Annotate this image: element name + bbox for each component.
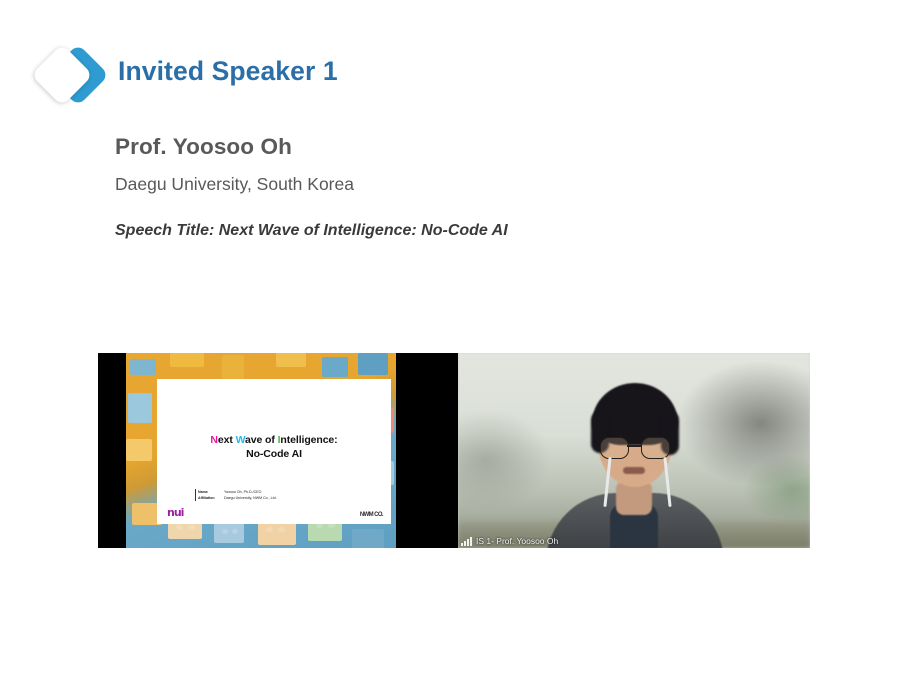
diamond-logo-icon [34, 46, 108, 108]
participant-name-text: IS 1- Prof. Yoosoo Oh [476, 536, 558, 546]
speaker-name: Prof. Yoosoo Oh [115, 134, 292, 160]
glasses-icon [600, 437, 670, 457]
slide-heading-ext: ext [218, 434, 236, 446]
slide-heading: Next Wave of Intelligence: No-Code AI [157, 433, 391, 461]
slide-meta-row: AffiliationDaegu University, NWM Co., Lt… [195, 495, 277, 501]
slide-heading-line2: No-Code AI [246, 448, 302, 460]
slide-meta-value: Yoosoo Oh, Ph.D./CEO [220, 490, 261, 494]
letterbox-right [396, 353, 458, 548]
signal-strength-icon [461, 537, 472, 546]
nui-lab-logo-icon: nui [167, 506, 183, 519]
speaker-figure [458, 353, 810, 548]
slide-heading-n: N [210, 434, 217, 446]
session-screenshot: Next Wave of Intelligence: No-Code AI Na… [98, 353, 810, 548]
letterbox-left [98, 353, 126, 548]
slide-header: Invited Speaker 1 [0, 0, 912, 120]
speaker-video-pane: IS 1- Prof. Yoosoo Oh [458, 353, 810, 548]
participant-name-label: IS 1- Prof. Yoosoo Oh [461, 536, 558, 546]
speaker-mouth [623, 467, 645, 474]
slide-meta-key: Affiliation [195, 495, 220, 501]
slide-heading-aveof: ave of [245, 434, 278, 446]
slide-title-card: Next Wave of Intelligence: No-Code AI Na… [157, 379, 391, 524]
slide-meta-block: NameYoosoo Oh, Ph.D./CEO AffiliationDaeg… [195, 489, 277, 501]
speaker-affiliation: Daegu University, South Korea [115, 174, 354, 195]
glasses-lens-left [600, 437, 629, 459]
speech-title: Speech Title: Next Wave of Intelligence:… [115, 222, 508, 240]
shared-slide-pane: Next Wave of Intelligence: No-Code AI Na… [98, 353, 458, 548]
slide-heading-w: W [236, 434, 245, 446]
page-title: Invited Speaker 1 [118, 56, 338, 87]
slide-heading-ntelligence: ntelligence: [280, 434, 337, 446]
glasses-bridge [627, 445, 641, 447]
slide-meta-value: Daegu University, NWM Co., Ltd. [220, 496, 277, 500]
company-logo-icon: NWM CO. [360, 512, 383, 518]
glasses-lens-right [641, 437, 670, 459]
